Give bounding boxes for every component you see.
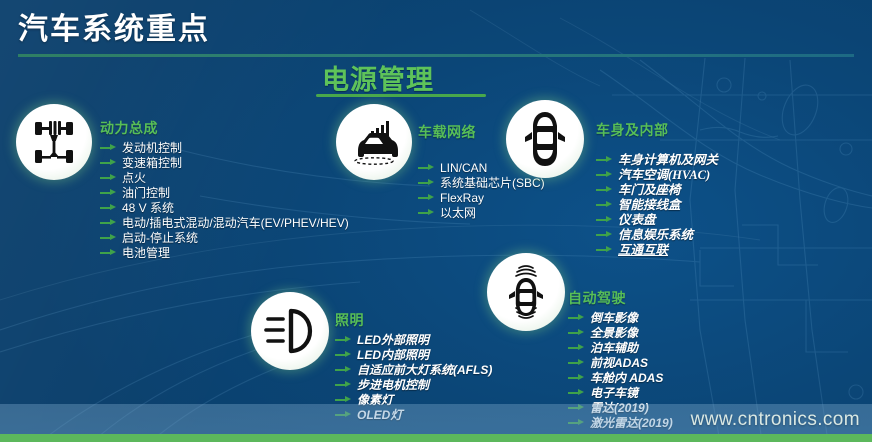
list-item: 油门控制	[100, 186, 349, 200]
list-item-label: 步进电机控制	[357, 378, 429, 392]
arrow-icon	[335, 365, 352, 375]
car-signal-icon	[336, 104, 412, 180]
list-item: FlexRay	[418, 191, 545, 205]
list-item-label: 泊车辅助	[590, 341, 638, 355]
page-title: 汽车系统重点	[18, 4, 210, 48]
list-item: 点火	[100, 171, 349, 185]
arrow-icon	[418, 208, 435, 218]
list-item: 自适应前大灯系统(AFLS)	[335, 363, 492, 377]
arrow-icon	[100, 188, 117, 198]
list-item: 电动/插电式混动/混动汽车(EV/PHEV/HEV)	[100, 216, 349, 230]
arrow-icon	[100, 233, 117, 243]
arrow-icon	[100, 173, 117, 183]
list-item-label: FlexRay	[440, 191, 484, 205]
list-item: 互通互联	[596, 243, 718, 257]
arrow-icon	[418, 178, 435, 188]
list-item-label: 全景影像	[590, 326, 638, 340]
slide-canvas: 汽车系统重点 电源管理 动力总成	[0, 0, 872, 442]
list-item: 48 V 系统	[100, 201, 349, 215]
list-item: LED内部照明	[335, 348, 492, 362]
list-item: 以太网	[418, 206, 545, 220]
list-item-label: 变速箱控制	[122, 156, 182, 170]
list-item-label: 车门及座椅	[618, 183, 681, 197]
arrow-icon	[568, 343, 585, 353]
footer-green-bar	[0, 434, 872, 442]
list-item-label: 车身计算机及网关	[618, 153, 718, 167]
list-item: 发动机控制	[100, 141, 349, 155]
arrow-icon	[568, 313, 585, 323]
arrow-icon	[596, 170, 613, 180]
arrow-icon	[100, 203, 117, 213]
arrow-icon	[596, 200, 613, 210]
power-management-underline	[316, 94, 486, 97]
list-item-label: 倒车影像	[590, 311, 638, 325]
list-item-label: 仪表盘	[618, 213, 656, 227]
list-item-label: 电子车镜	[590, 386, 638, 400]
arrow-icon	[596, 185, 613, 195]
list-item-label: 油门控制	[122, 186, 170, 200]
list-item: 车门及座椅	[596, 183, 718, 197]
arrow-icon	[596, 230, 613, 240]
list-item-label: 发动机控制	[122, 141, 182, 155]
list-item: 电子车镜	[568, 386, 673, 400]
list-item-label: 电动/插电式混动/混动汽车(EV/PHEV/HEV)	[122, 216, 349, 230]
car-topview-icon	[506, 100, 584, 178]
arrow-icon	[100, 143, 117, 153]
arrow-icon	[100, 248, 117, 258]
arrow-icon	[596, 215, 613, 225]
arrow-icon	[568, 388, 585, 398]
section-adas-heading: 自动驾驶	[568, 288, 673, 308]
arrow-icon	[418, 163, 435, 173]
title-divider	[18, 54, 854, 57]
list-item: 前视ADAS	[568, 356, 673, 370]
site-watermark: www.cntronics.com	[691, 409, 860, 431]
list-item-label: LIN/CAN	[440, 161, 487, 175]
section-body-heading: 车身及内部	[596, 120, 718, 140]
list-item: 系统基础芯片(SBC)	[418, 176, 545, 190]
list-item-label: 48 V 系统	[122, 201, 174, 215]
list-item: 信息娱乐系统	[596, 228, 718, 242]
list-item-label: 启动-停止系统	[122, 231, 198, 245]
list-item: 汽车空调(HVAC)	[596, 168, 718, 182]
list-item-label: 智能接线盒	[618, 198, 681, 212]
list-item-label: 前视ADAS	[590, 356, 648, 370]
list-item-label: 自适应前大灯系统(AFLS)	[357, 363, 492, 377]
power-management-heading: 电源管理	[322, 58, 434, 97]
arrow-icon	[596, 245, 613, 255]
list-item: LED外部照明	[335, 333, 492, 347]
car-sensor-icon	[487, 253, 565, 331]
list-item-label: 系统基础芯片(SBC)	[440, 176, 545, 190]
chassis-drivetrain-icon	[16, 104, 92, 180]
section-powertrain: 动力总成 发动机控制 变速箱控制 点火 油门控制 48 V 系统 电动/插电式混…	[100, 118, 349, 261]
arrow-icon	[418, 193, 435, 203]
list-item: 泊车辅助	[568, 341, 673, 355]
list-item-label: 汽车空调(HVAC)	[618, 168, 710, 182]
list-item-label: 以太网	[440, 206, 476, 220]
arrow-icon	[568, 328, 585, 338]
list-item-label: 信息娱乐系统	[618, 228, 693, 242]
arrow-icon	[335, 350, 352, 360]
list-item-label: 互通互联	[618, 243, 668, 257]
arrow-icon	[335, 380, 352, 390]
list-item-label: LED内部照明	[357, 348, 429, 362]
list-item: 车舱内 ADAS	[568, 371, 673, 385]
list-item: 仪表盘	[596, 213, 718, 227]
list-item: 车身计算机及网关	[596, 153, 718, 167]
section-powertrain-heading: 动力总成	[100, 118, 349, 138]
list-item: 电池管理	[100, 246, 349, 260]
list-item: 智能接线盒	[596, 198, 718, 212]
headlight-icon	[251, 292, 329, 370]
list-item-label: 点火	[122, 171, 146, 185]
arrow-icon	[100, 158, 117, 168]
list-item: 启动-停止系统	[100, 231, 349, 245]
arrow-icon	[335, 335, 352, 345]
list-item: 全景影像	[568, 326, 673, 340]
arrow-icon	[596, 155, 613, 165]
arrow-icon	[568, 373, 585, 383]
section-lighting-heading: 照明	[335, 310, 492, 330]
list-item-label: LED外部照明	[357, 333, 429, 347]
section-body-interior: 车身及内部 车身计算机及网关 汽车空调(HVAC) 车门及座椅 智能接线盒 仪表…	[596, 120, 718, 258]
list-item-label: 车舱内 ADAS	[590, 371, 663, 385]
arrow-icon	[568, 358, 585, 368]
arrow-icon	[100, 218, 117, 228]
list-item: 变速箱控制	[100, 156, 349, 170]
list-item-label: 电池管理	[122, 246, 170, 260]
list-item: 步进电机控制	[335, 378, 492, 392]
list-item: 倒车影像	[568, 311, 673, 325]
